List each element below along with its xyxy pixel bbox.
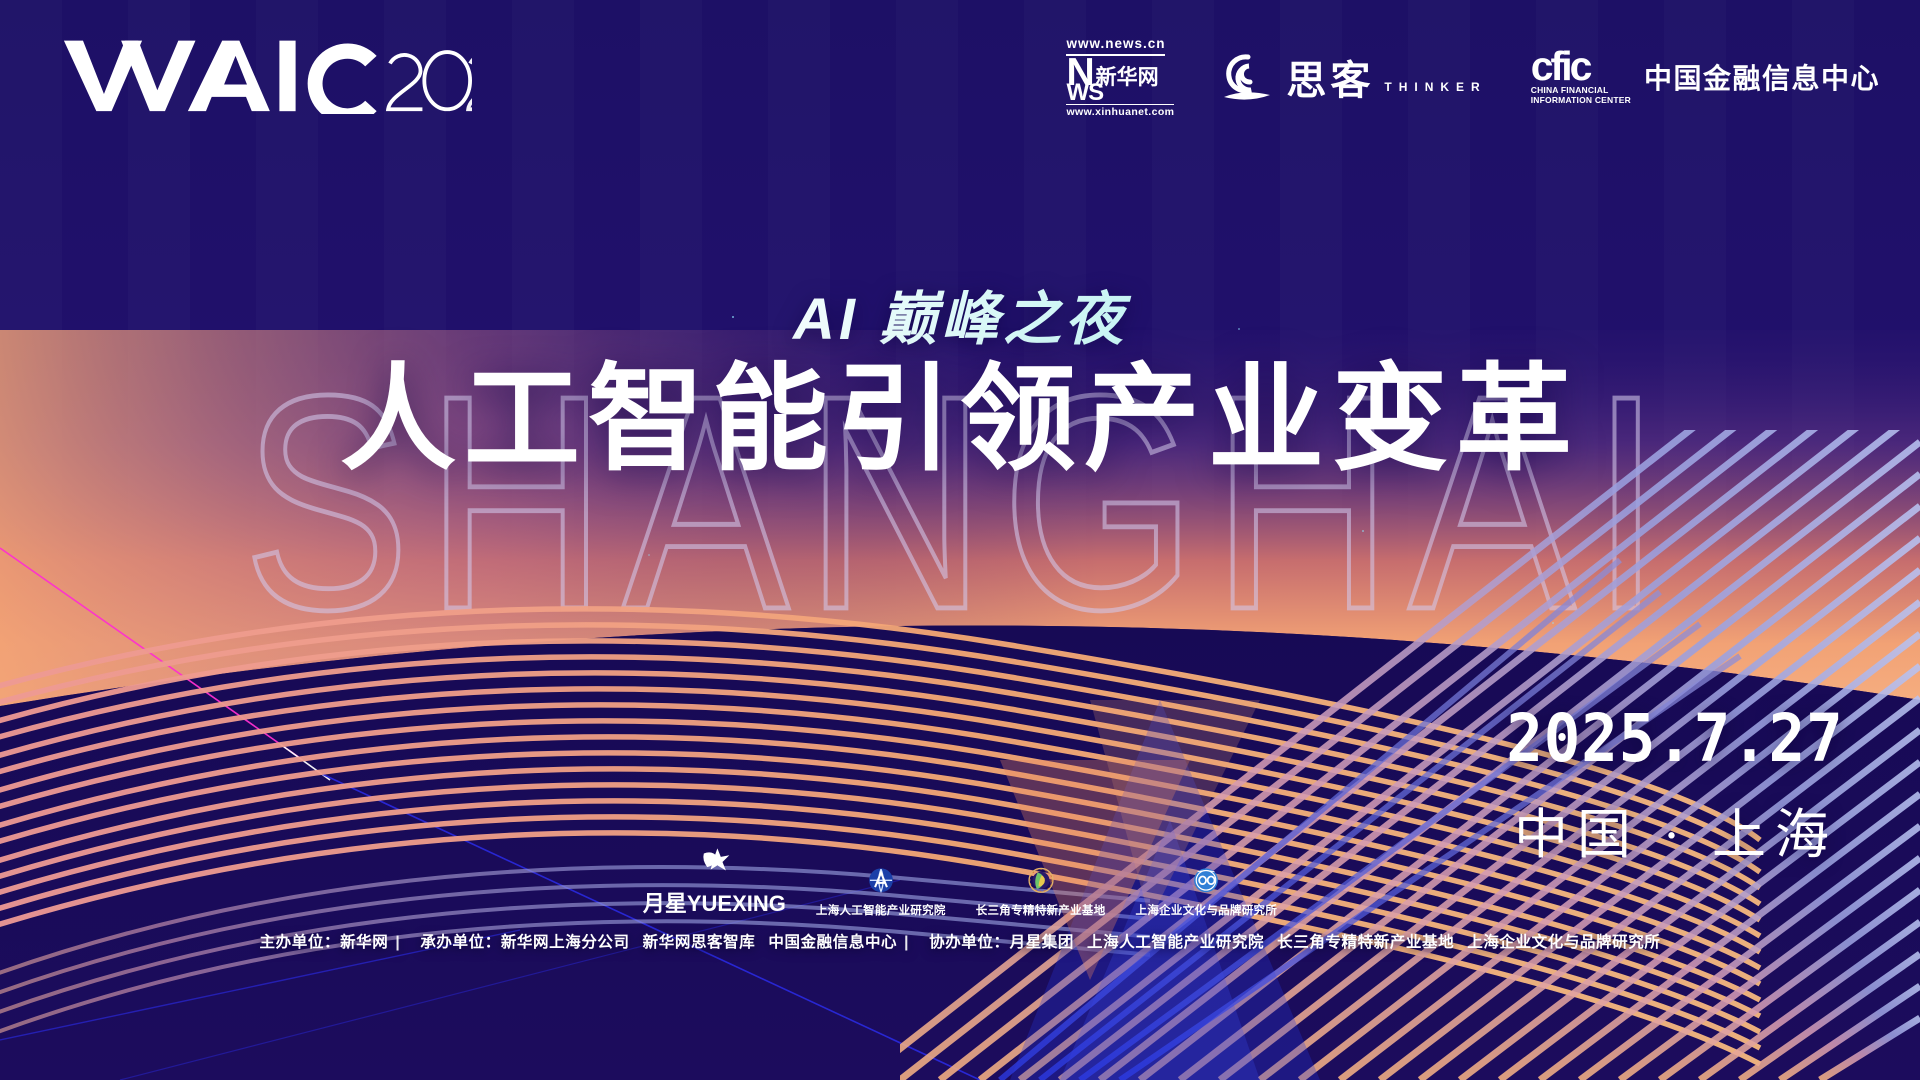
event-date: 2025.7.27 — [1507, 700, 1844, 777]
sponsor-yuexing: 月星YUEXING — [643, 845, 786, 918]
cfic-mark: cfic — [1531, 48, 1631, 85]
credit-coorganizer-4: 上海企业文化与品牌研究所 — [1467, 934, 1660, 951]
wave-line-artwork — [0, 0, 1920, 1080]
cfic-name-cn: 中国金融信息中心 — [1644, 57, 1880, 97]
credit-host-label: 主办单位： — [260, 934, 341, 951]
thinker-name-en: THINKER — [1384, 80, 1486, 94]
credit-separator-2: | — [897, 934, 916, 951]
thinker-name-cn: 思客 — [1286, 48, 1374, 106]
credit-coorganizer-3: 长三角专精特新产业基地 — [1277, 934, 1454, 951]
credit-organizer-2: 新华网思客智库 — [643, 934, 756, 951]
waic-2025-logo — [62, 34, 472, 114]
page-title: 人工智能引领产业变革 — [0, 355, 1920, 485]
xinhua-url-bottom: www.xinhuanet.com — [1066, 104, 1174, 118]
sponsor-brand-institute: 上海企业文化与品牌研究所 — [1136, 865, 1278, 918]
waic-2025-conference-banner: SHANGHAI — [0, 0, 1920, 1080]
sponsor-ai-institute: 上海人工智能产业研究院 — [816, 865, 946, 918]
cfic-logo: cfic CHINA FINANCIAL INFORMATION CENTER … — [1531, 48, 1880, 106]
sponsor-name: 长三角专精特新产业基地 — [976, 902, 1106, 918]
sponsor-name: 月星YUEXING — [643, 886, 786, 918]
credit-organizer-1: 新华网上海分公司 — [501, 934, 630, 951]
organizer-credits: 主办单位：新华网|承办单位：新华网上海分公司新华网思客智库中国金融信息中心|协办… — [0, 930, 1920, 952]
xinhua-news-logo: www.news.cn N 新华网 WS www.xinhuanet.com — [1066, 36, 1174, 118]
credit-organizer-3: 中国金融信息中心 — [768, 934, 897, 951]
credit-coorganizer-label: 协办单位： — [929, 934, 1010, 951]
credit-coorganizer-2: 上海人工智能产业研究院 — [1087, 934, 1264, 951]
credit-host-value: 新华网 — [340, 934, 388, 951]
sponsor-logo-strip: 月星YUEXING 上海人工智能产业研究院 长三角专精特新产业基地 — [0, 845, 1920, 918]
cfic-name-en-line2: INFORMATION CENTER — [1531, 96, 1631, 106]
yangtze-delta-base-icon — [1024, 865, 1058, 899]
credit-organizer-label: 承办单位： — [420, 934, 501, 951]
ai-institute-globe-icon — [864, 865, 898, 899]
yuexing-star-icon — [697, 845, 731, 879]
xinhua-name-cn: 新华网 — [1096, 67, 1159, 89]
banner-header: www.news.cn N 新华网 WS www.xinhuanet.com 思… — [0, 0, 1920, 150]
xinhua-mark-ws: WS — [1066, 83, 1103, 102]
credit-separator-1: | — [388, 934, 407, 951]
thinker-swirl-icon — [1218, 51, 1276, 103]
partner-logo-group: www.news.cn N 新华网 WS www.xinhuanet.com 思… — [1066, 36, 1880, 118]
sponsor-name: 上海人工智能产业研究院 — [816, 902, 946, 918]
sponsor-yangtze-delta-base: 长三角专精特新产业基地 — [976, 865, 1106, 918]
event-kicker: AI 巅峰之夜 — [0, 272, 1920, 356]
credit-coorganizer-1: 月星集团 — [1010, 934, 1074, 951]
brand-institute-seal-icon — [1189, 865, 1223, 899]
thinker-logo: 思客 THINKER — [1218, 48, 1486, 106]
cfic-name-en-line1: CHINA FINANCIAL — [1531, 86, 1631, 96]
sponsor-name: 上海企业文化与品牌研究所 — [1136, 902, 1278, 918]
